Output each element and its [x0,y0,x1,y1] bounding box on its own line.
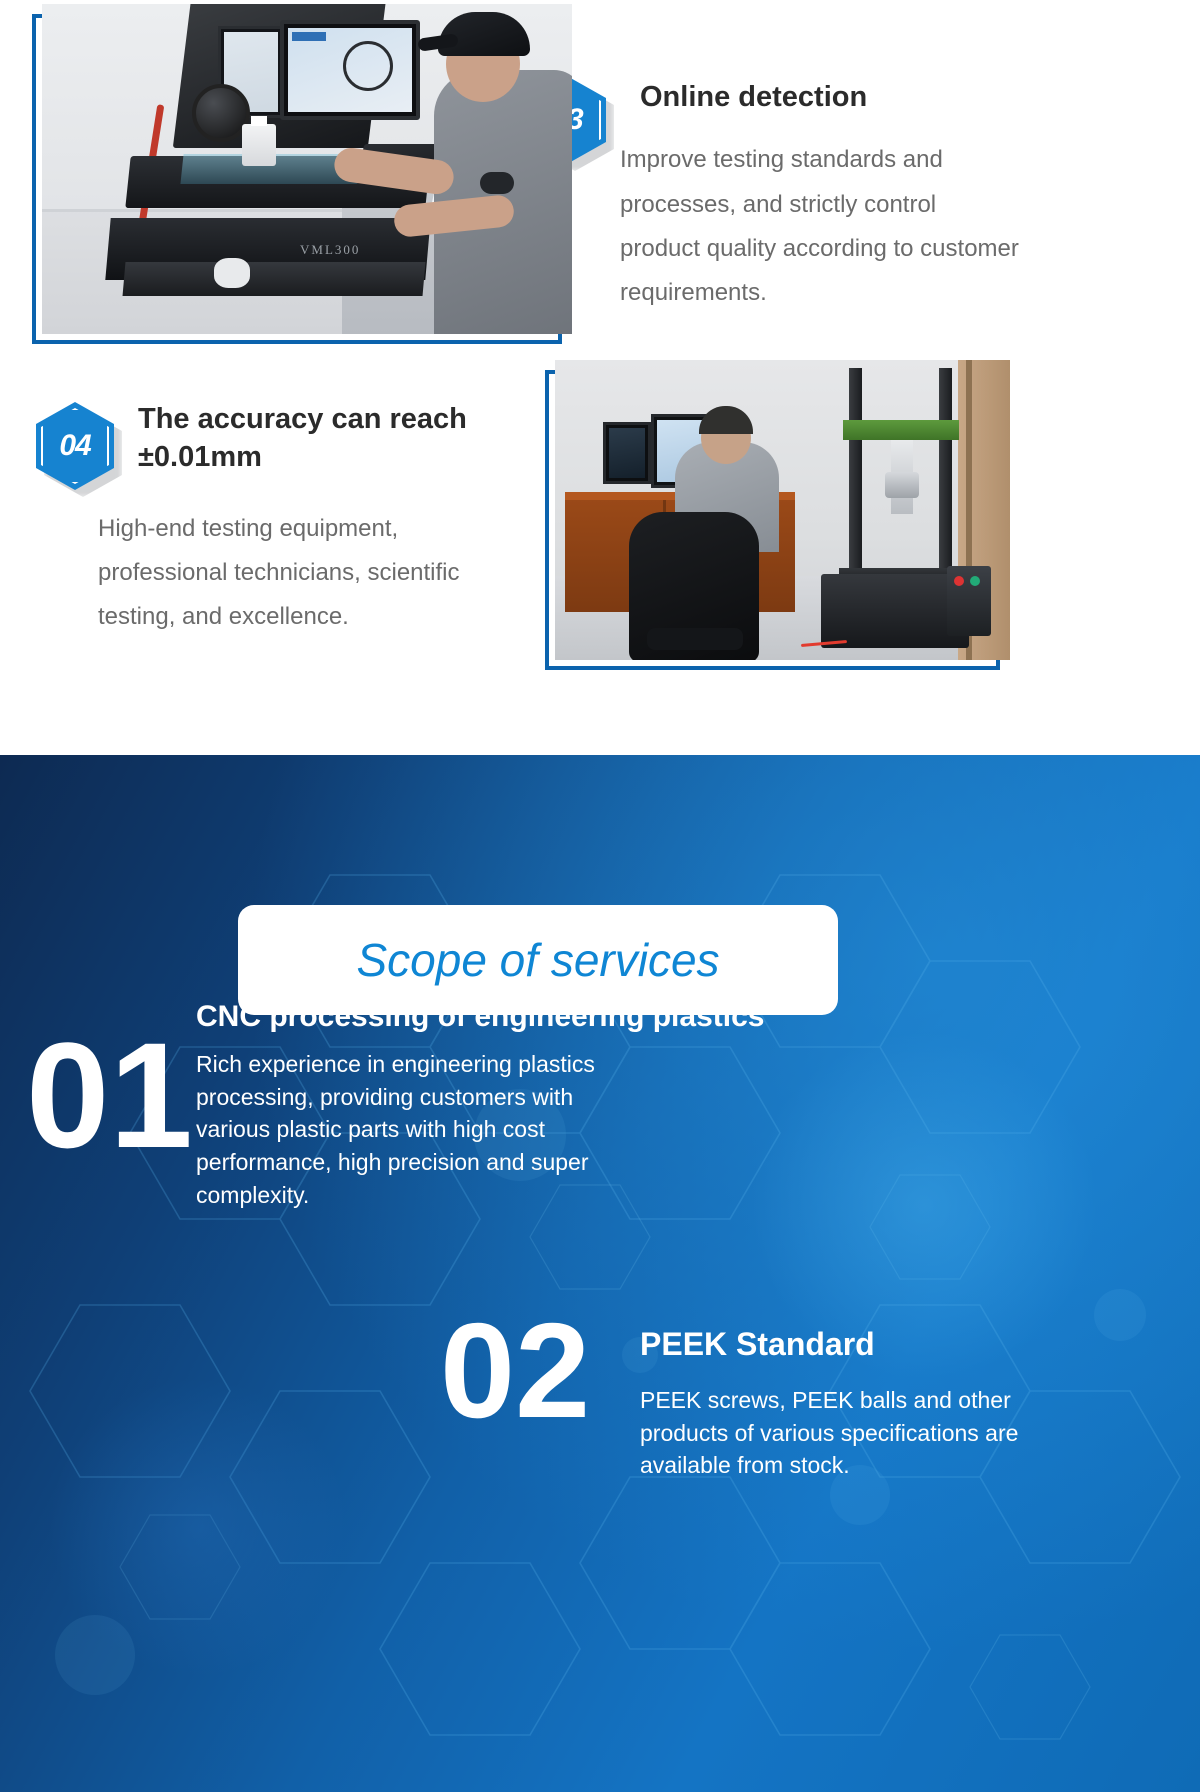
scope-number-02: 02 [440,1310,590,1432]
scope-number-01: 01 [26,1028,193,1163]
scope-body-02: PEEK screws, PEEK balls and other produc… [640,1384,1040,1482]
feature-title-04: The accuracy can reach ±0.01mm [138,392,528,477]
photo-image-detection: VML300 [42,4,572,334]
scope-title: Scope of services [356,933,719,987]
scope-title-card: Scope of services [238,905,838,1015]
feature-body-03: Improve testing standards and processes,… [620,138,1020,316]
feature-body-04: High-end testing equipment, professional… [98,507,528,640]
background-glow [48,1377,348,1677]
scope-body-01: Rich experience in engineering plastics … [196,1048,601,1211]
features-section: VML300 03 Online detection Improve testi… [0,0,1200,860]
online-detection-photo: VML300 [32,14,562,344]
feature-title-03: Online detection [640,62,1176,116]
feature-item-04: 04 The accuracy can reach ±0.01mm High-e… [36,392,536,640]
accuracy-testing-photo [545,370,1000,670]
peek-gear-rack-image [620,1785,1040,1792]
scope-of-services-section: Scope of services 01 CNC processing of e… [0,755,1200,1792]
hexagon-badge-04: 04 [36,402,118,494]
scope-title-01: CNC processing of engineering plastics [196,1000,956,1034]
scope-title-02: PEEK Standard [640,1326,875,1363]
feature-number-04: 04 [36,402,114,490]
photo-image-accuracy [555,360,1010,660]
feature-item-03: 03 Online detection Improve testing stan… [528,62,1176,316]
